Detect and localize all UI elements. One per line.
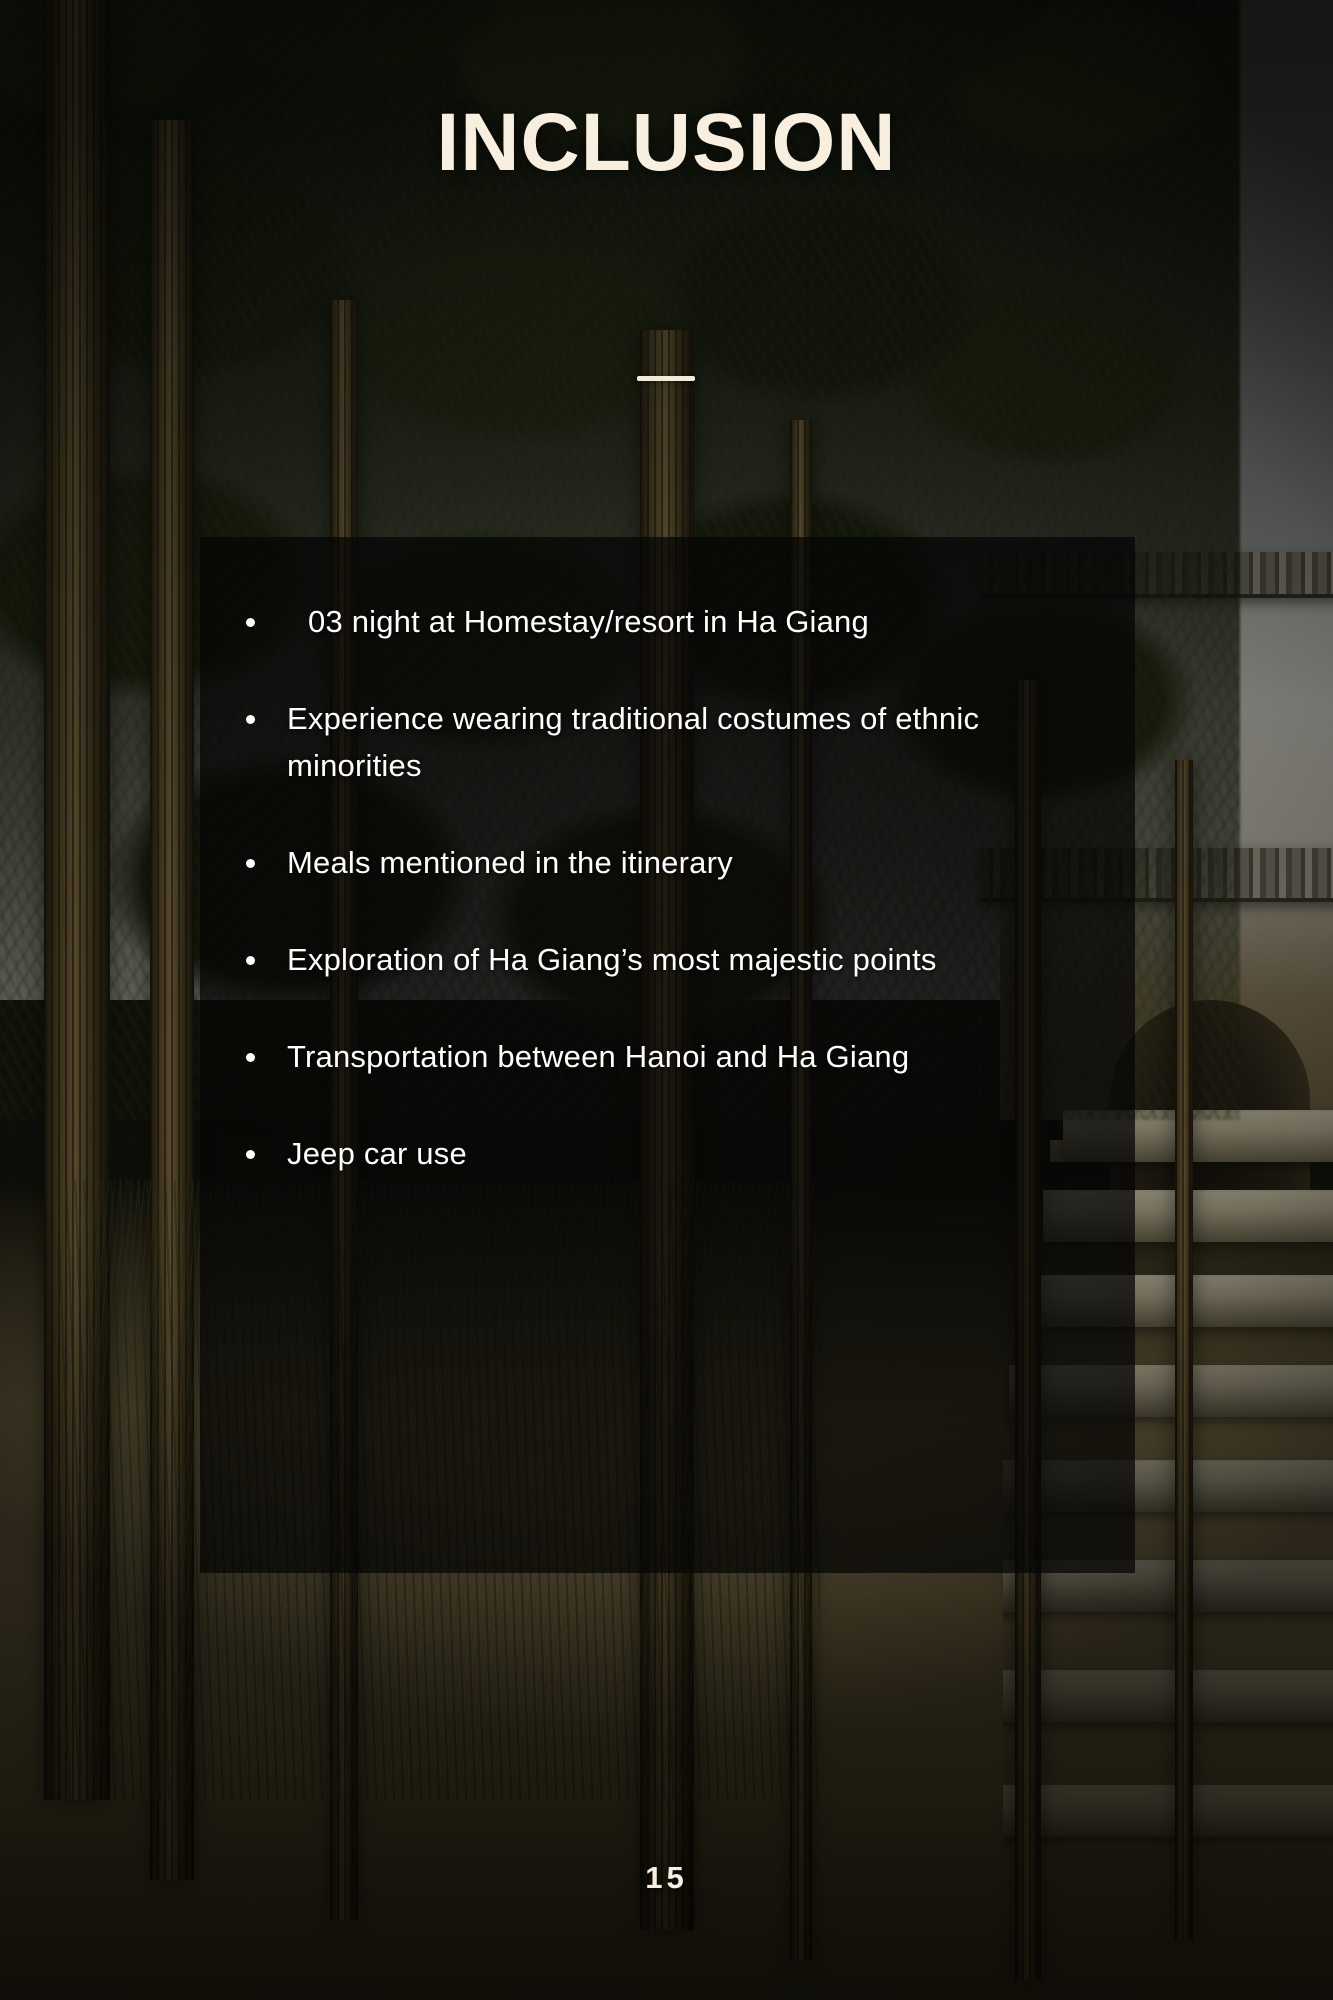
title-divider: [637, 376, 695, 381]
presentation-slide: INCLUSION 03 night at Homestay/resort in…: [0, 0, 1333, 2000]
list-item: Meals mentioned in the itinerary: [232, 839, 1112, 886]
list-item: Experience wearing traditional costumes …: [232, 695, 1112, 789]
page-number: 15: [0, 1860, 1333, 1896]
list-item: Transportation between Hanoi and Ha Gian…: [232, 1033, 1112, 1080]
page-title: INCLUSION: [0, 96, 1333, 190]
inclusions-list: 03 night at Homestay/resort in Ha Giang …: [232, 598, 1112, 1227]
list-item: Jeep car use: [232, 1130, 1112, 1177]
list-item: 03 night at Homestay/resort in Ha Giang: [232, 598, 1112, 645]
list-item: Exploration of Ha Giang’s most majestic …: [232, 936, 1112, 983]
